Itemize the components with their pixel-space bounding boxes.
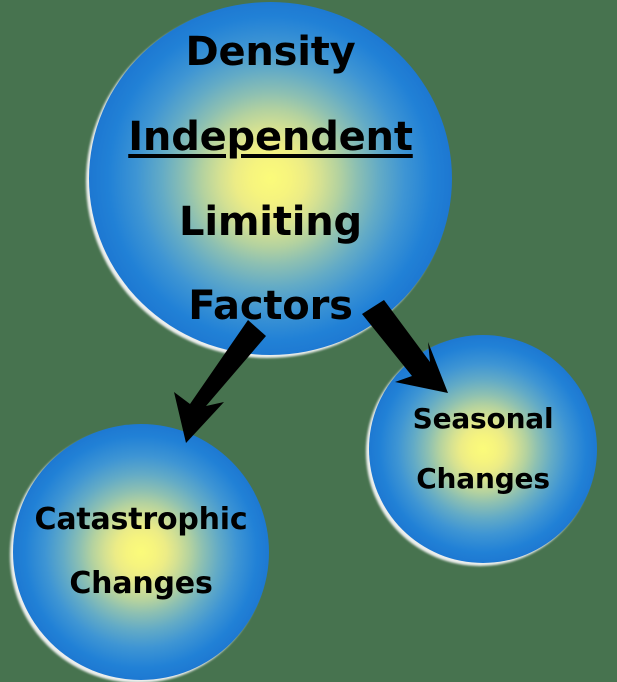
node-main-line-3: Limiting [128, 201, 413, 243]
node-catastrophic-changes[interactable]: Catastrophic Changes [13, 424, 269, 680]
node-catastrophic-label: Catastrophic Changes [35, 473, 248, 632]
node-main-line-1: Density [128, 31, 413, 73]
node-seasonal-line-2: Changes [413, 464, 554, 494]
arrow-main-to-catastrophic [160, 320, 280, 450]
node-seasonal-line-1: Seasonal [413, 404, 554, 434]
node-catastrophic-line-1: Catastrophic [35, 504, 248, 536]
arrow-down-right-icon [362, 300, 448, 393]
arrow-down-left-icon [174, 320, 266, 443]
node-catastrophic-line-2: Changes [35, 568, 248, 600]
node-main-line-2: Independent [128, 116, 413, 158]
diagram-canvas: Density Independent Limiting Factors Cat… [0, 0, 617, 682]
arrow-main-to-seasonal [340, 300, 460, 405]
